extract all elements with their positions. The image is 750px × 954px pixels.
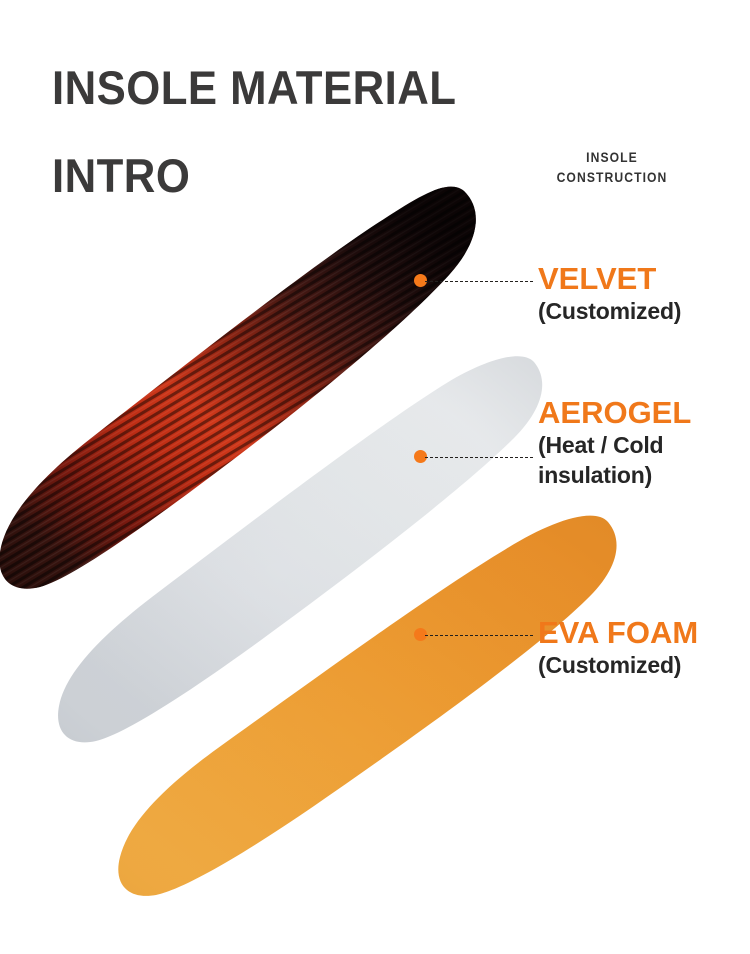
velvet-material-name: VELVET: [538, 262, 681, 296]
insole-construction-label-line-2: CONSTRUCTION: [531, 168, 693, 188]
eva-foam-material-name: EVA FOAM: [538, 616, 698, 650]
eva-foam-callout-leader-line: [425, 635, 533, 636]
aerogel-material-note-line-2: insulation): [538, 460, 691, 490]
aerogel-callout-leader-line: [425, 457, 533, 458]
page-title-line-1: INSOLE MATERIAL: [52, 44, 573, 132]
eva-foam-material-note: (Customized): [538, 650, 698, 680]
eva-foam-insole-shape: [112, 510, 627, 902]
velvet-material-note: (Customized): [538, 296, 681, 326]
velvet-callout-leader-line: [425, 281, 533, 282]
eva-foam-callout-text: EVA FOAM (Customized): [538, 616, 698, 680]
insole-construction-label: INSOLE CONSTRUCTION: [531, 148, 693, 188]
eva-foam-insole-layer: [112, 510, 627, 902]
insole-material-infographic: INSOLE MATERIAL INTRO INSOLE CONSTRUCTIO…: [0, 0, 750, 954]
velvet-callout-text: VELVET (Customized): [538, 262, 681, 326]
insole-construction-label-line-1: INSOLE: [531, 148, 693, 168]
aerogel-material-note-line-1: (Heat / Cold: [538, 430, 691, 460]
aerogel-callout-text: AEROGEL (Heat / Cold insulation): [538, 396, 691, 490]
aerogel-material-name: AEROGEL: [538, 396, 691, 430]
